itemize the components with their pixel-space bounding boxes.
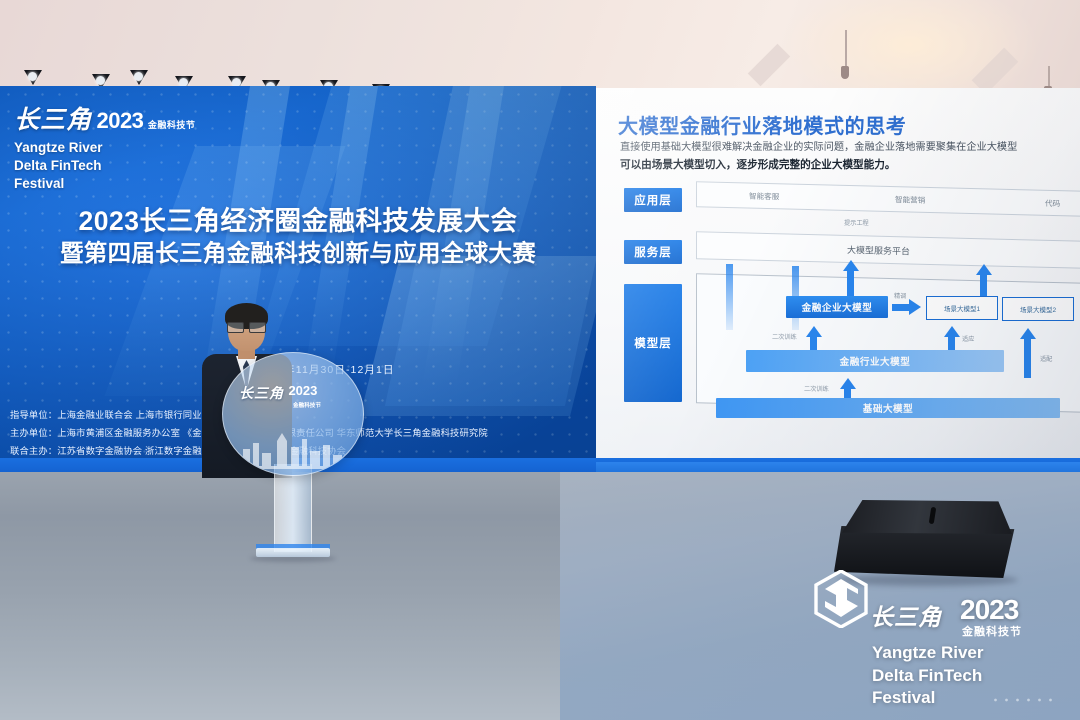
- event-title-line1: 2023长三角经济圈金融科技发展大会: [0, 204, 596, 238]
- podium-skyline-graphic: [237, 427, 349, 469]
- scene-model-box-2: 场景大模型2: [1002, 297, 1074, 321]
- slide-body-text: 直接使用基础大模型很难解决金融企业的实际问题，金融企业落地需要聚集在企业大模型 …: [620, 140, 1080, 174]
- flow-stem: [726, 264, 733, 330]
- festival-logo-cn-sub: 金融科技节: [148, 120, 196, 130]
- arrow-label-finetune: 精调: [894, 291, 906, 300]
- watermark-year: 2023: [960, 594, 1018, 626]
- flow-stem: [847, 270, 854, 296]
- flow-stem: [810, 336, 817, 350]
- hanging-wire: [1048, 66, 1050, 88]
- arrow-label-secondary-training: 二次训练: [804, 384, 829, 393]
- festival-logo-cn-mark: 长三角: [14, 106, 92, 134]
- podium-panel: 长三角 2023 金融科技节: [222, 352, 364, 476]
- watermark-dot-pattern: [990, 696, 1060, 704]
- app-item-label: 智能营销: [895, 194, 925, 206]
- podium-logo-cn-sub: 金融科技节: [293, 401, 349, 409]
- hexagon-emblem-icon: [814, 570, 868, 628]
- backdrop-event-title: 2023长三角经济圈金融科技发展大会 暨第四届长三角金融科技创新与应用全球大赛: [0, 204, 596, 269]
- monitor-handle-slot: [929, 507, 937, 525]
- flow-stem: [980, 274, 987, 298]
- enterprise-model-box: 金融企业大模型: [786, 296, 888, 318]
- conference-stage-photo: 长三角 2023 金融科技节 Yangtze River Delta FinTe…: [0, 0, 1080, 720]
- podium-logo-cn-mark: 长三角: [239, 383, 284, 403]
- watermark-cn-sub: 金融科技节: [962, 623, 1022, 639]
- app-item-label: 智能客服: [749, 190, 779, 202]
- arrow-label-adapt: 适应: [962, 334, 974, 343]
- industry-model-box: 金融行业大模型: [746, 350, 1004, 372]
- event-title-line2: 暨第四届长三角金融科技创新与应用全球大赛: [0, 238, 596, 269]
- watermark-en-line1: Yangtze River: [872, 642, 984, 665]
- layer-tag-model: 模型层: [624, 284, 682, 402]
- foundation-model-box: 基础大模型: [716, 398, 1060, 418]
- model-layer-frame: [696, 273, 1080, 412]
- app-item-label: 代码: [1045, 197, 1060, 208]
- podium-festival-logo: 长三角 2023 金融科技节: [239, 383, 349, 409]
- flow-stem: [844, 388, 851, 398]
- scene-model-box-1: 场景大模型1: [926, 296, 998, 320]
- monitor-top-face: [842, 500, 1012, 534]
- hanging-fixture: [841, 66, 849, 79]
- layer-tag-application: 应用层: [624, 188, 682, 212]
- service-item-label: 大模型服务平台: [847, 242, 910, 257]
- podium-base: [256, 548, 330, 557]
- podium-logo-year: 2023: [288, 383, 317, 398]
- festival-logo-backdrop: 长三角 2023 金融科技节 Yangtze River Delta FinTe…: [14, 108, 195, 192]
- arrow-label-secondary-training: 二次训练: [772, 332, 797, 341]
- watermark-cn-mark: 长三角: [870, 598, 942, 632]
- slide-title: 大模型金融行业落地模式的思考: [618, 110, 906, 139]
- hanging-wire: [845, 30, 847, 68]
- flow-arrow-right: [909, 299, 921, 315]
- flow-stem: [1024, 338, 1031, 378]
- watermark-en-line3: Festival: [872, 687, 984, 710]
- podium-stem: [274, 464, 312, 552]
- arrow-label-adapt: 适配: [1040, 354, 1052, 363]
- festival-logo-en-line3: Festival: [14, 175, 195, 193]
- festival-watermark: 长三角 2023 金融科技节 Yangtze River Delta FinTe…: [810, 568, 1062, 708]
- prompt-engineering-label: 提示工程: [844, 218, 869, 227]
- podium: 长三角 2023 金融科技节: [222, 352, 362, 558]
- festival-logo-en-line1: Yangtze River: [14, 139, 195, 157]
- speaker-glasses-icon: [227, 322, 266, 331]
- festival-logo-en-line2: Delta FinTech: [14, 157, 195, 175]
- flow-arrow-stem-right: [892, 304, 910, 311]
- slide-body-line2: 可以由场景大模型切入，逐步形成完整的企业大模型能力。: [620, 159, 895, 171]
- layer-tag-service: 服务层: [624, 240, 682, 264]
- application-layer-band: 智能客服 智能营销 代码: [696, 181, 1080, 216]
- festival-logo-year: 2023: [96, 108, 143, 133]
- service-layer-band: 大模型服务平台: [696, 231, 1080, 268]
- watermark-en-lines: Yangtze River Delta FinTech Festival: [872, 642, 984, 710]
- presentation-screen: 大模型金融行业落地模式的思考 直接使用基础大模型很难解决金融企业的实际问题，金融…: [596, 88, 1080, 470]
- slide-body-line1: 直接使用基础大模型很难解决金融企业的实际问题，金融企业落地需要聚集在企业大模型: [620, 140, 1080, 157]
- watermark-en-line2: Delta FinTech: [872, 665, 984, 688]
